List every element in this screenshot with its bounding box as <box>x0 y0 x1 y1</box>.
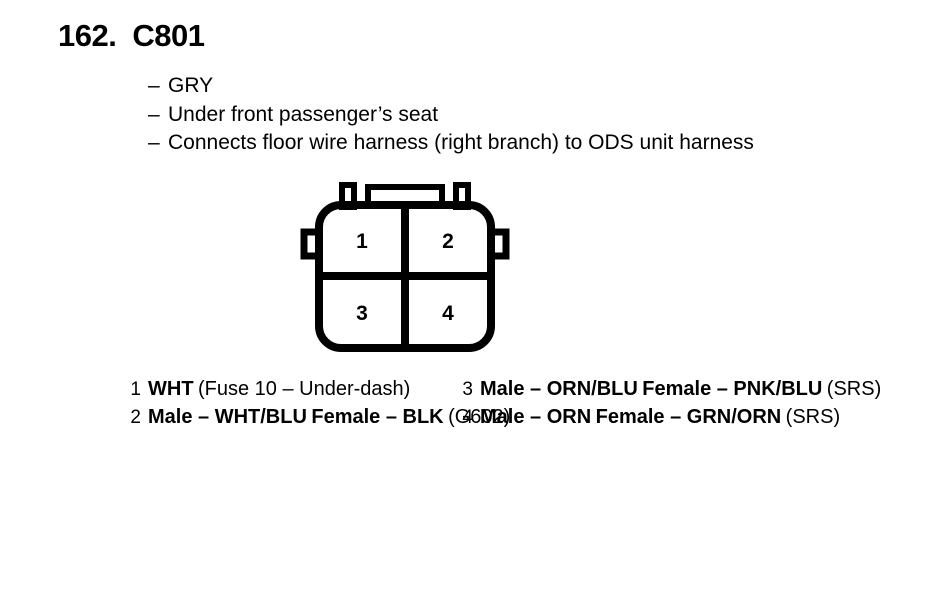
description-line: – Connects floor wire harness (right bra… <box>148 129 754 158</box>
pin-line: (Fuse 10 – Under-dash) <box>198 378 410 400</box>
connector-code: C801 <box>132 18 204 54</box>
pin-entry: 4 Male – ORN Female – GRN/ORN (SRS) <box>452 404 881 432</box>
page-title: 162. C801 <box>58 18 204 54</box>
description-line: – Under front passenger’s seat <box>148 101 754 130</box>
description-text: Under front passenger’s seat <box>168 101 438 130</box>
item-number: 162. <box>58 18 116 54</box>
pin-line: Male – ORN <box>480 406 591 428</box>
pin-detail: WHT (Fuse 10 – Under-dash) <box>148 376 410 404</box>
cavity-number-4: 4 <box>442 302 454 325</box>
pin-line: WHT <box>148 378 194 400</box>
pin-detail: Male – ORN/BLU Female – PNK/BLU (SRS) <box>480 376 881 404</box>
description-text: Connects floor wire harness (right branc… <box>168 129 754 158</box>
pin-line: Male – ORN/BLU <box>480 378 638 400</box>
pin-line: (SRS) <box>827 378 881 400</box>
dash-marker: – <box>148 72 168 101</box>
pin-line: Female – BLK <box>311 406 443 428</box>
dash-marker: – <box>148 101 168 130</box>
pin-number: 1 <box>120 376 148 404</box>
description-text: GRY <box>168 72 213 101</box>
pin-detail: Male – ORN Female – GRN/ORN (SRS) <box>480 404 840 432</box>
connector-diagram: 1 2 3 4 <box>300 182 510 357</box>
pin-line: Male – WHT/BLU <box>148 406 307 428</box>
cavity-number-3: 3 <box>356 302 368 325</box>
pin-number: 4 <box>452 404 480 432</box>
description-line: – GRY <box>148 72 754 101</box>
pin-line: (SRS) <box>786 406 840 428</box>
pin-line: Female – PNK/BLU <box>642 378 822 400</box>
cavity-number-1: 1 <box>356 230 368 253</box>
pin-number: 2 <box>120 404 148 432</box>
pin-line: Female – GRN/ORN <box>596 406 782 428</box>
pin-legend-right-column: 3 Male – ORN/BLU Female – PNK/BLU (SRS) … <box>452 376 881 431</box>
pin-number: 3 <box>452 376 480 404</box>
dash-marker: – <box>148 129 168 158</box>
pin-entry: 3 Male – ORN/BLU Female – PNK/BLU (SRS) <box>452 376 881 404</box>
connector-description: – GRY – Under front passenger’s seat – C… <box>148 72 754 158</box>
cavity-number-2: 2 <box>442 230 454 253</box>
